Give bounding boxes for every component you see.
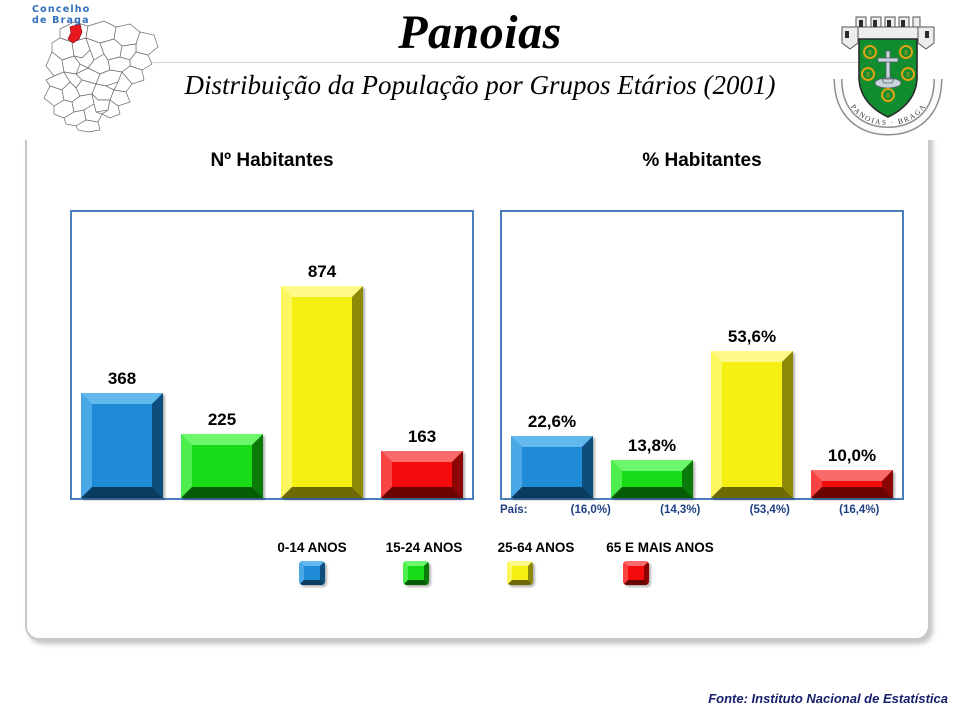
svg-text:8: 8	[866, 71, 870, 79]
pais-value-25-64: (53,4%)	[725, 504, 815, 516]
pais-value-65-mais: (16,4%)	[815, 504, 905, 516]
bar-group-15-24: 225	[178, 212, 266, 498]
svg-text:8: 8	[906, 71, 910, 79]
map-label: Concelho de Braga	[32, 4, 90, 26]
bar-value-label: 53,6%	[728, 327, 776, 347]
bar-15-24[interactable]	[181, 434, 263, 498]
bar-pct-15-24[interactable]	[611, 460, 693, 498]
title-block: Panoias Distribuição da População por Gr…	[160, 4, 800, 104]
chart-legend: 0-14 ANOS 15-24 ANOS 25-64 ANOS 65 E MAI…	[62, 540, 912, 585]
legend-swatch-0-14[interactable]	[299, 561, 325, 585]
pais-value-15-24: (14,3%)	[636, 504, 726, 516]
bar-pct-65-mais[interactable]	[811, 470, 893, 498]
legend-labels: 0-14 ANOS 15-24 ANOS 25-64 ANOS 65 E MAI…	[62, 540, 912, 555]
bar-value-label: 368	[108, 369, 136, 389]
bar-value-label: 13,8%	[628, 436, 676, 456]
legend-swatch-holder-25-64	[468, 561, 572, 585]
page-title: Panoias	[160, 4, 800, 62]
pais-comparison-row: País: (16,0%) (14,3%) (53,4%) (16,4%)	[500, 504, 904, 516]
bar-pct-0-14[interactable]	[511, 436, 593, 498]
source-footer: Fonte: Instituto Nacional de Estatística	[708, 691, 948, 706]
panoias-coat-of-arms-icon: 88 88 8 PANOIAS · BRAGA	[826, 3, 950, 137]
legend-swatch-holder-0-14	[260, 561, 364, 585]
bar-value-label: 22,6%	[528, 412, 576, 432]
chart-left-bars: 368 225 874 163	[72, 212, 472, 498]
chart-right-plot-frame: 22,6% 13,8% 53,6% 10,0%	[500, 210, 904, 500]
legend-label-25-64: 25-64 ANOS	[484, 540, 588, 555]
chart-numero-habitantes: Nº Habitantes 368 225 874	[62, 150, 482, 510]
chart-percentagem-habitantes: % Habitantes 22,6% 13,8% 53,6%	[492, 150, 912, 510]
bar-value-label: 874	[308, 262, 336, 282]
bar-group-pct-25-64: 53,6%	[708, 212, 796, 498]
legend-swatch-65-mais[interactable]	[623, 561, 649, 585]
chart-left-title: Nº Habitantes	[62, 150, 482, 172]
legend-label-15-24: 15-24 ANOS	[372, 540, 476, 555]
svg-text:8: 8	[904, 49, 908, 57]
legend-swatch-15-24[interactable]	[403, 561, 429, 585]
bar-group-pct-65-mais: 10,0%	[808, 212, 896, 498]
bar-pct-25-64[interactable]	[711, 351, 793, 498]
bar-group-pct-0-14: 22,6%	[508, 212, 596, 498]
chart-left-plot-frame: 368 225 874 163	[70, 210, 474, 500]
legend-label-65-mais: 65 E MAIS ANOS	[596, 540, 724, 555]
legend-swatches	[62, 561, 912, 585]
page-subtitle: Distribuição da População por Grupos Etá…	[160, 63, 800, 104]
pais-label: País:	[500, 504, 546, 516]
legend-label-0-14: 0-14 ANOS	[260, 540, 364, 555]
bar-value-label: 10,0%	[828, 446, 876, 466]
svg-text:8: 8	[886, 92, 890, 100]
bar-25-64[interactable]	[281, 286, 363, 498]
bar-65-mais[interactable]	[381, 451, 463, 498]
legend-swatch-holder-15-24	[364, 561, 468, 585]
bar-group-25-64: 874	[278, 212, 366, 498]
bar-value-label: 163	[408, 427, 436, 447]
chart-right-bars: 22,6% 13,8% 53,6% 10,0%	[502, 212, 902, 498]
braga-municipality-map-icon: Concelho de Braga	[18, 2, 178, 137]
page-header: Panoias Distribuição da População por Gr…	[0, 0, 960, 140]
legend-swatch-holder-65-mais	[572, 561, 700, 585]
bar-group-pct-15-24: 13,8%	[608, 212, 696, 498]
bar-group-65-mais: 163	[378, 212, 466, 498]
svg-text:8: 8	[868, 49, 872, 57]
chart-right-title: % Habitantes	[492, 150, 912, 172]
bar-0-14[interactable]	[81, 393, 163, 498]
legend-swatch-25-64[interactable]	[507, 561, 533, 585]
crest-svg: 88 88 8 PANOIAS · BRAGA	[826, 3, 950, 137]
bar-group-0-14: 368	[78, 212, 166, 498]
pais-value-0-14: (16,0%)	[546, 504, 636, 516]
bar-value-label: 225	[208, 410, 236, 430]
